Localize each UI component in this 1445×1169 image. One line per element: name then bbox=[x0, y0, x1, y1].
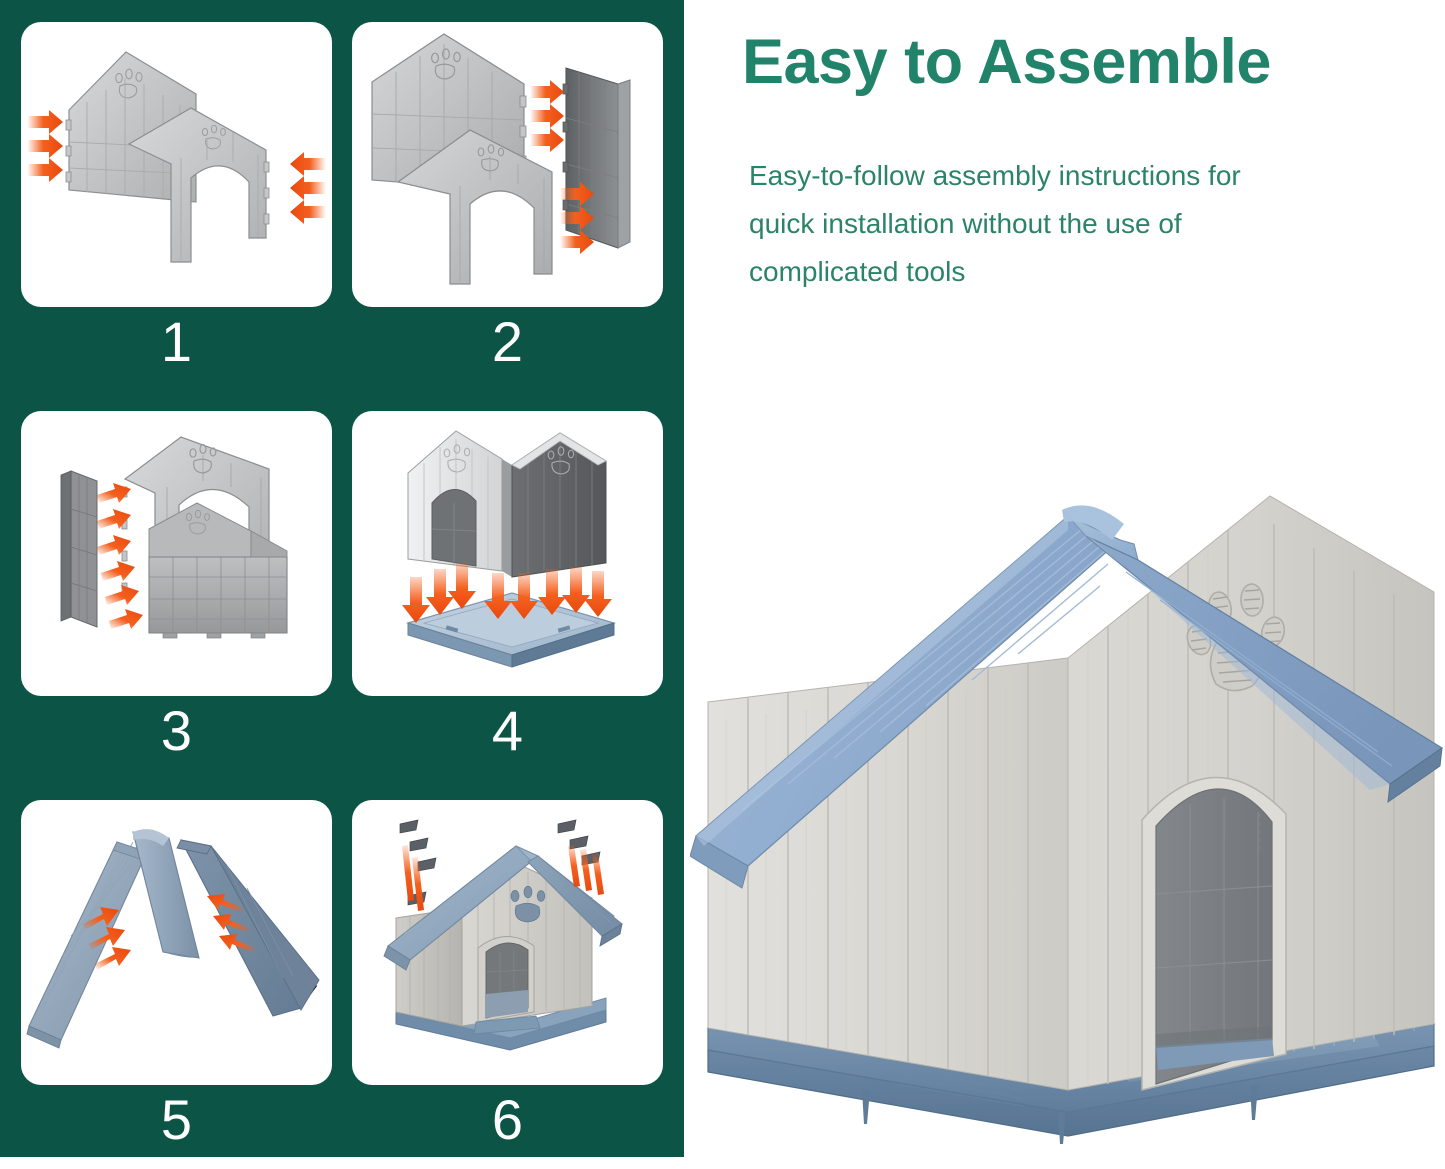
steps-grid: 1 bbox=[0, 0, 684, 1157]
front-wall-with-door bbox=[408, 431, 502, 571]
arrow-group-lower bbox=[560, 182, 594, 254]
step-5-card bbox=[21, 800, 332, 1085]
front-gable-wall bbox=[1068, 496, 1434, 1090]
step-1-illustration bbox=[21, 22, 332, 307]
assembly-step-6: 6 bbox=[352, 800, 663, 1140]
arrow-group-left bbox=[97, 483, 143, 629]
step-2-number: 2 bbox=[352, 314, 663, 370]
step-3-illustration bbox=[21, 411, 332, 696]
step-3-card bbox=[21, 411, 332, 696]
step-2-card bbox=[352, 22, 663, 307]
step-5-number: 5 bbox=[21, 1092, 332, 1148]
feature-description-line-1: Easy-to-follow assembly instructions for bbox=[749, 152, 1429, 200]
step-4-illustration bbox=[352, 411, 663, 696]
feature-description: Easy-to-follow assembly instructions for… bbox=[749, 152, 1429, 296]
step-4-number: 4 bbox=[352, 703, 663, 759]
step-6-card bbox=[352, 800, 663, 1085]
left-roof-panel bbox=[27, 842, 147, 1048]
assembly-step-5: 5 bbox=[21, 800, 332, 1140]
step-6-illustration bbox=[352, 800, 663, 1085]
step-5-illustration bbox=[21, 800, 332, 1085]
step-1-card bbox=[21, 22, 332, 307]
arrow-group-left bbox=[27, 110, 63, 182]
entry-doorway bbox=[1142, 777, 1286, 1090]
step-2-illustration bbox=[352, 22, 663, 307]
page-title: Easy to Assemble bbox=[742, 28, 1432, 97]
step-4-card bbox=[352, 411, 663, 696]
arrow-group-right bbox=[290, 152, 326, 224]
side-and-back-wall bbox=[502, 433, 606, 577]
screw-group-left bbox=[400, 820, 436, 911]
step-1-number: 1 bbox=[21, 314, 332, 370]
assembly-step-4: 4 bbox=[352, 411, 663, 751]
infographic-page: 1 bbox=[0, 0, 1445, 1169]
assembly-step-1: 1 bbox=[21, 22, 332, 362]
left-side-panel bbox=[61, 471, 97, 627]
dog-house-render bbox=[690, 490, 1445, 1160]
feature-description-line-2: quick installation without the use of bbox=[749, 200, 1429, 248]
assembly-steps-panel: 1 bbox=[0, 0, 684, 1157]
feature-description-line-3: complicated tools bbox=[749, 248, 1429, 296]
step-6-number: 6 bbox=[352, 1092, 663, 1148]
product-hero-image bbox=[690, 490, 1445, 1160]
arrow-group-upper bbox=[530, 80, 564, 152]
assembly-step-3: 3 bbox=[21, 411, 332, 751]
step-3-number: 3 bbox=[21, 703, 332, 759]
assembly-step-2: 2 bbox=[352, 22, 663, 362]
